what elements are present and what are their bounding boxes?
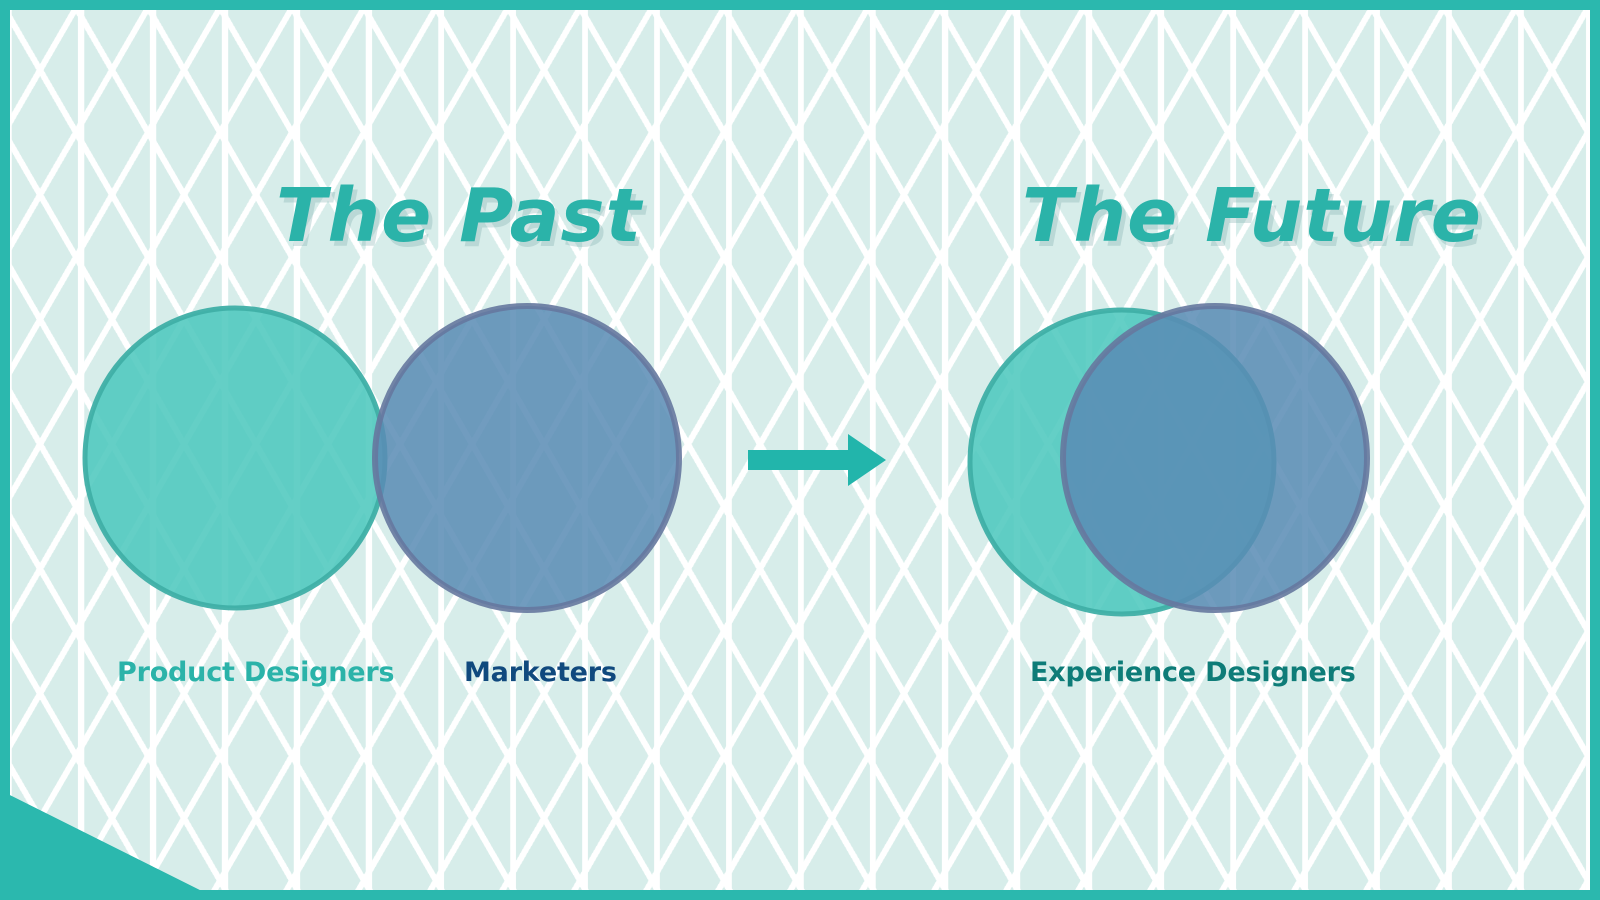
content-panel: The Past The Future Product Designers Ma… [10, 10, 1590, 890]
heading-the-past: The Past [276, 173, 642, 259]
label-product-designers: Product Designers [117, 657, 394, 688]
heading-the-future: The Future [1022, 173, 1482, 259]
label-experience-designers: Experience Designers [1030, 657, 1356, 688]
label-marketers: Marketers [464, 657, 617, 688]
infographic-canvas: The Past The Future Product Designers Ma… [0, 0, 1600, 900]
isometric-grid-background [10, 10, 1590, 890]
